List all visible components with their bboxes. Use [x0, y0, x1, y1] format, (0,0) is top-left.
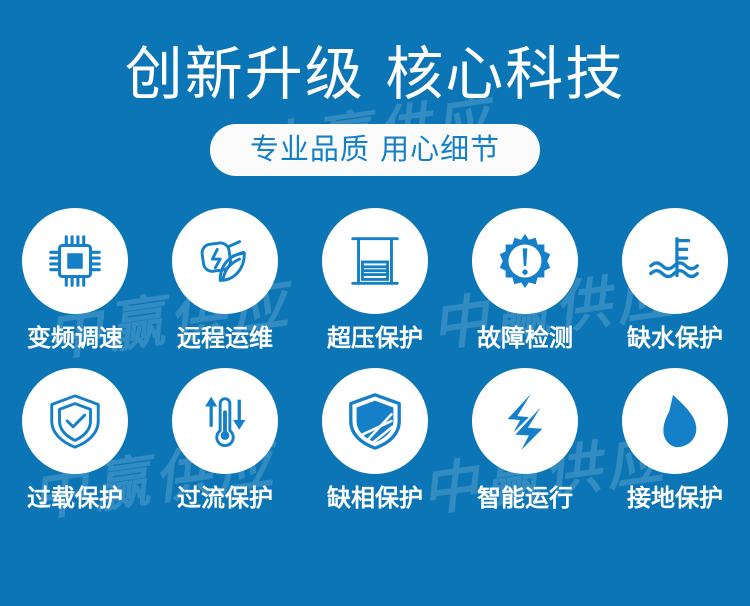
feature-icon-circle — [322, 208, 428, 314]
feature-item-overcurrent-protection: 过流保护 — [156, 368, 294, 512]
feature-item-phase-loss-protection: 缺相保护 — [306, 368, 444, 512]
feature-item-water-shortage: 缺水保护 — [606, 208, 744, 352]
water-level-icon — [644, 230, 706, 292]
feature-row: 过载保护 — [0, 368, 750, 512]
feature-icon-circle — [172, 368, 278, 474]
feature-icon-circle — [622, 208, 728, 314]
feature-label: 远程运维 — [177, 324, 273, 352]
lightning-bolt-icon — [494, 390, 556, 452]
leaf-drop-icon — [644, 390, 706, 452]
feature-item-remote-maintenance: 远程运维 — [156, 208, 294, 352]
feature-label: 超压保护 — [327, 324, 423, 352]
feature-item-overload-protection: 过载保护 — [6, 368, 144, 512]
feature-icon-circle — [22, 208, 128, 314]
feature-grid: 变频调速 远程运维 — [0, 208, 750, 512]
feature-label: 故障检测 — [477, 324, 573, 352]
feature-label: 智能运行 — [477, 484, 573, 512]
banner-header: 创新升级 核心科技 专业品质 用心细节 — [0, 0, 750, 176]
cpu-chip-icon — [44, 230, 106, 292]
shield-check-icon — [44, 390, 106, 452]
feature-item-variable-frequency: 变频调速 — [6, 208, 144, 352]
feature-label: 过流保护 — [177, 484, 273, 512]
gear-alert-icon — [494, 230, 556, 292]
feature-icon-circle — [472, 368, 578, 474]
feature-icon-circle — [322, 368, 428, 474]
feature-row: 变频调速 远程运维 — [0, 208, 750, 352]
feature-label: 过载保护 — [27, 484, 123, 512]
feature-banner: 中赢供应 中赢供应 中赢供应 中赢供应 中赢供应 创新升级 核心科技 专业品质 … — [0, 0, 750, 606]
subtitle-badge: 专业品质 用心细节 — [210, 124, 540, 176]
plug-leaf-icon — [194, 230, 256, 292]
feature-icon-circle — [22, 368, 128, 474]
feature-label: 缺水保护 — [627, 324, 723, 352]
feature-item-grounding-protection: 接地保护 — [606, 368, 744, 512]
press-overpressure-icon — [344, 230, 406, 292]
page-title: 创新升级 核心科技 — [0, 0, 750, 106]
feature-icon-circle — [172, 208, 278, 314]
feature-item-intelligent-operation: 智能运行 — [456, 368, 594, 512]
feature-item-fault-detection: 故障检测 — [456, 208, 594, 352]
feature-item-overpressure: 超压保护 — [306, 208, 444, 352]
feature-icon-circle — [472, 208, 578, 314]
feature-label: 变频调速 — [27, 324, 123, 352]
thermometer-arrows-icon — [194, 390, 256, 452]
feature-label: 缺相保护 — [327, 484, 423, 512]
feature-label: 接地保护 — [627, 484, 723, 512]
feature-icon-circle — [622, 368, 728, 474]
shield-striped-icon — [344, 390, 406, 452]
